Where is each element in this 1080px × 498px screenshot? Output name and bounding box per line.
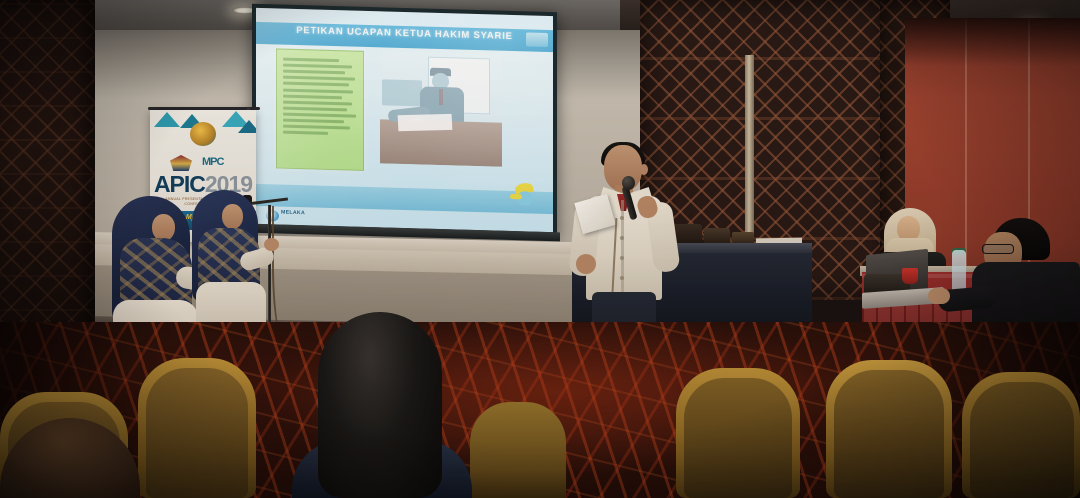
slide-corner-logo-icon — [526, 32, 548, 47]
red-wall-shadow — [905, 18, 1080, 66]
malaysia-emblem-icon — [170, 155, 192, 171]
banquet-chair-cushion — [834, 370, 944, 498]
globe-emblem-icon — [190, 122, 216, 146]
slide-photo-tie — [439, 89, 443, 105]
red-cup — [902, 268, 918, 284]
slide-cartoon-icon — [513, 183, 539, 210]
banquet-chair — [470, 402, 566, 498]
left-lattice-shading — [0, 0, 95, 345]
participant-left-back-face — [222, 204, 243, 229]
speaker-shirt-placket — [621, 200, 624, 296]
projection-screen-surface: PETIKAN UCAPAN KETUA HAKIM SYARIE — [256, 8, 553, 232]
slide-photo-monitor — [382, 79, 422, 106]
banquet-chair-cushion — [146, 368, 248, 498]
speaker-ear — [640, 164, 648, 175]
banner-title: APIC2019 — [150, 172, 256, 196]
banner-triangle-decor — [238, 120, 256, 133]
speaker-shirt-button — [620, 256, 624, 260]
slide-photo-document — [398, 114, 453, 131]
speaker-shirt-button — [620, 236, 624, 240]
participant-left-back-hand — [264, 238, 279, 251]
participant-left-front-face — [152, 214, 175, 241]
judge-male-hand — [928, 288, 950, 304]
speaker-left-hand — [576, 254, 596, 274]
banner-triangle-decor — [154, 112, 180, 127]
mpc-logo-text: MPC — [202, 156, 223, 168]
handheld-microphone-icon — [622, 176, 635, 190]
speaker-shirt-button — [620, 276, 624, 280]
speaker-shirt-button — [620, 216, 624, 220]
eyeglasses-icon — [982, 244, 1014, 254]
banquet-chair-cushion — [970, 382, 1074, 498]
banquet-chair-cushion — [684, 378, 792, 498]
audience-member-head — [318, 312, 442, 498]
slide-quote-box — [276, 48, 364, 170]
conference-room-photo: PETIKAN UCAPAN KETUA HAKIM SYARIE — [0, 0, 1080, 498]
banner-title-primary: APIC — [154, 171, 205, 197]
slide-photograph — [380, 51, 502, 166]
